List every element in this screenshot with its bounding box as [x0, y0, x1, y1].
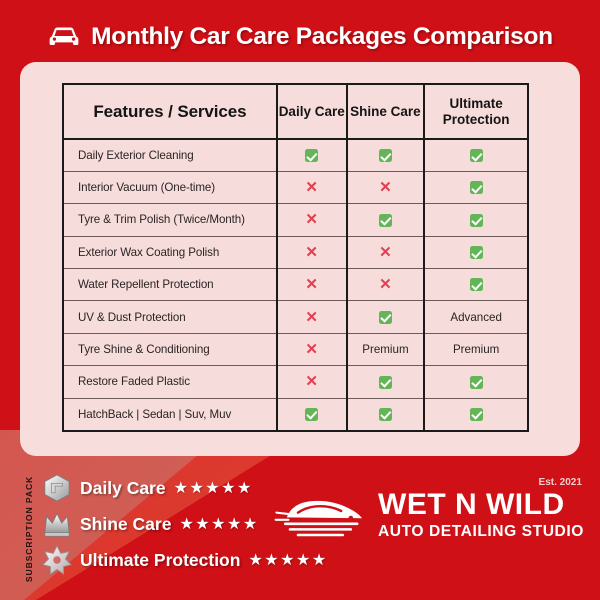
star-rating: ★★★★★ — [179, 514, 258, 534]
comparison-table: Features / Services Daily Care Shine Car… — [62, 83, 529, 432]
daily-care-cell: ✕ — [277, 366, 347, 398]
shine-care-cell — [347, 398, 425, 430]
table-row: HatchBack | Sedan | Suv, Muv — [63, 398, 528, 430]
cube-icon — [42, 473, 72, 503]
brand-established: Est. 2021 — [539, 477, 582, 488]
brand-name: WET N WILD — [378, 490, 584, 520]
table-row: Water Repellent Protection✕✕ — [63, 269, 528, 301]
cross-icon: ✕ — [305, 374, 318, 389]
shine-care-cell: Premium — [347, 333, 425, 365]
feature-name-cell: Tyre Shine & Conditioning — [63, 333, 277, 365]
column-header-daily: Daily Care — [277, 84, 347, 139]
car-icon — [47, 24, 81, 50]
table-row: Tyre Shine & Conditioning✕PremiumPremium — [63, 333, 528, 365]
cross-icon: ✕ — [379, 245, 392, 260]
shine-care-cell — [347, 366, 425, 398]
starburst-icon — [42, 545, 72, 575]
package-name: Daily Care — [80, 478, 166, 499]
check-icon — [379, 149, 392, 162]
brand-wordmark: Est. 2021 WET N WILD AUTO DETAILING STUD… — [378, 490, 584, 540]
cell-value-text: Premium — [453, 343, 499, 356]
check-icon — [470, 214, 483, 227]
star-rating: ★★★★★ — [248, 550, 327, 570]
column-header-ultimate: Ultimate Protection — [424, 84, 528, 139]
cross-icon: ✕ — [305, 342, 318, 357]
table-row: Daily Exterior Cleaning — [63, 139, 528, 171]
ultimate-protection-cell — [424, 171, 528, 203]
shine-care-cell — [347, 139, 425, 171]
table-header-row: Features / Services Daily Care Shine Car… — [63, 84, 528, 139]
star-rating: ★★★★★ — [174, 478, 253, 498]
feature-name-cell: Interior Vacuum (One-time) — [63, 171, 277, 203]
check-icon — [470, 376, 483, 389]
page-title: Monthly Car Care Packages Comparison — [91, 23, 553, 51]
ultimate-protection-cell — [424, 398, 528, 430]
page-header: Monthly Car Care Packages Comparison — [0, 14, 600, 60]
check-icon — [379, 408, 392, 421]
cross-icon: ✕ — [305, 310, 318, 325]
cell-value-text: Advanced — [450, 311, 502, 324]
brand-tagline: AUTO DETAILING STUDIO — [378, 524, 584, 540]
check-icon — [470, 149, 483, 162]
table-header: Features / Services Daily Care Shine Car… — [63, 84, 528, 139]
cross-icon: ✕ — [305, 180, 318, 195]
feature-name-cell: UV & Dust Protection — [63, 301, 277, 333]
daily-care-cell: ✕ — [277, 301, 347, 333]
shine-care-cell: ✕ — [347, 269, 425, 301]
package-name: Shine Care — [80, 514, 171, 535]
daily-care-cell: ✕ — [277, 269, 347, 301]
check-icon — [379, 376, 392, 389]
cross-icon: ✕ — [305, 212, 318, 227]
daily-care-cell: ✕ — [277, 333, 347, 365]
check-icon — [379, 214, 392, 227]
table-row: Tyre & Trim Polish (Twice/Month)✕ — [63, 204, 528, 236]
column-header-features: Features / Services — [63, 84, 277, 139]
cross-icon: ✕ — [379, 180, 392, 195]
ultimate-protection-cell — [424, 139, 528, 171]
table-row: Restore Faded Plastic✕ — [63, 366, 528, 398]
daily-care-cell — [277, 398, 347, 430]
feature-name-cell: Daily Exterior Cleaning — [63, 139, 277, 171]
feature-name-cell: Water Repellent Protection — [63, 269, 277, 301]
feature-name-cell: Tyre & Trim Polish (Twice/Month) — [63, 204, 277, 236]
table-row: UV & Dust Protection✕Advanced — [63, 301, 528, 333]
cross-icon: ✕ — [379, 277, 392, 292]
daily-care-cell: ✕ — [277, 236, 347, 268]
package-name: Ultimate Protection — [80, 550, 240, 571]
ultimate-protection-cell — [424, 204, 528, 236]
ultimate-protection-cell — [424, 269, 528, 301]
ultimate-protection-cell: Advanced — [424, 301, 528, 333]
daily-care-cell — [277, 139, 347, 171]
check-icon — [470, 246, 483, 259]
feature-name-cell: HatchBack | Sedan | Suv, Muv — [63, 398, 277, 430]
check-icon — [470, 278, 483, 291]
shine-care-cell — [347, 204, 425, 236]
table-body: Daily Exterior CleaningInterior Vacuum (… — [63, 139, 528, 431]
cross-icon: ✕ — [305, 245, 318, 260]
subscription-pack-label: SUBSCRIPTION PACK — [24, 474, 34, 584]
feature-name-cell: Restore Faded Plastic — [63, 366, 277, 398]
table-row: Interior Vacuum (One-time)✕✕ — [63, 171, 528, 203]
check-icon — [470, 181, 483, 194]
shine-care-cell: ✕ — [347, 171, 425, 203]
daily-care-cell: ✕ — [277, 204, 347, 236]
cell-value-text: Premium — [362, 343, 408, 356]
ultimate-protection-cell — [424, 366, 528, 398]
check-icon — [305, 149, 318, 162]
check-icon — [379, 311, 392, 324]
feature-name-cell: Exterior Wax Coating Polish — [63, 236, 277, 268]
daily-care-cell: ✕ — [277, 171, 347, 203]
sports-car-logo-icon — [274, 488, 370, 542]
table-row: Exterior Wax Coating Polish✕✕ — [63, 236, 528, 268]
brand-logo: Est. 2021 WET N WILD AUTO DETAILING STUD… — [274, 480, 584, 550]
shine-care-cell — [347, 301, 425, 333]
check-icon — [305, 408, 318, 421]
ultimate-protection-cell — [424, 236, 528, 268]
ultimate-protection-cell: Premium — [424, 333, 528, 365]
check-icon — [470, 408, 483, 421]
column-header-shine: Shine Care — [347, 84, 425, 139]
shine-care-cell: ✕ — [347, 236, 425, 268]
crown-icon — [42, 509, 72, 539]
cross-icon: ✕ — [305, 277, 318, 292]
